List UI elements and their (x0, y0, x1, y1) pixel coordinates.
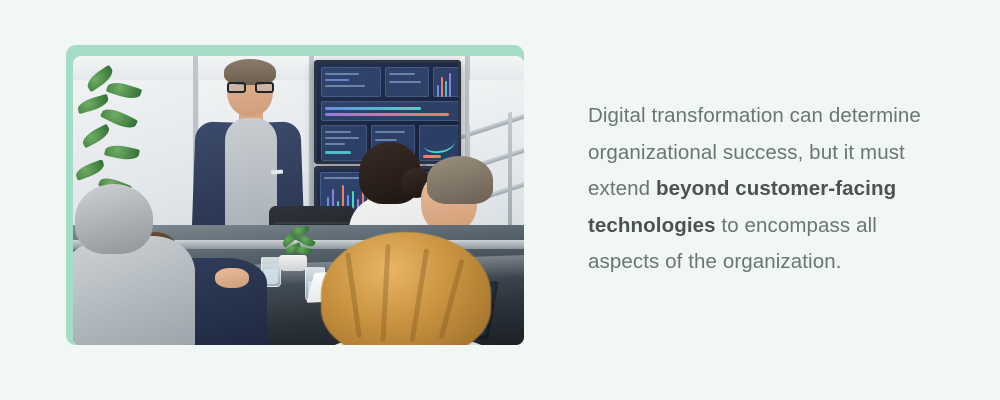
quote-bold-1: beyond customer-facing (656, 177, 896, 200)
quote-bold-2: technologies (588, 214, 716, 237)
presenter-glasses (227, 82, 274, 93)
attendee-blonde-woman (321, 232, 491, 345)
presenter-pocket-square (271, 170, 283, 175)
quote-line-1: Digital transformation can (588, 104, 823, 127)
quote-tail: to encompass (716, 214, 851, 237)
table-plant (279, 225, 319, 271)
attendee-grey-haired-man (73, 184, 215, 345)
quote-paragraph: Digital transformation can determine org… (588, 98, 948, 281)
conference-room-photo (73, 56, 524, 345)
pull-quote-text: Digital transformation can determine org… (588, 98, 948, 281)
photo-scene (73, 56, 524, 345)
pull-quote-banner: Digital transformation can determine org… (0, 0, 1000, 400)
